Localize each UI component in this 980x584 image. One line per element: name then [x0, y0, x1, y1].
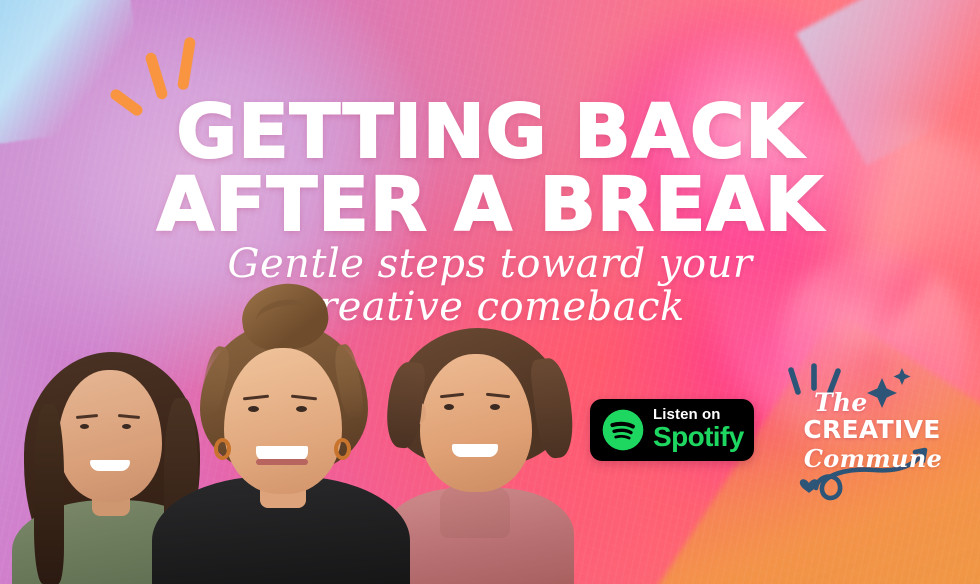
heart-icon — [800, 479, 818, 493]
episode-subtitle-line-1: Gentle steps toward your — [0, 243, 980, 286]
turtleneck-collar — [440, 486, 510, 538]
eye-right — [296, 406, 307, 412]
episode-title-line-1: GETTING BACK — [0, 96, 980, 169]
face — [58, 370, 162, 502]
logo-word-creative: CREATIVE — [794, 415, 950, 444]
brand-logo[interactable]: The CREATIVE Commune — [778, 362, 964, 512]
eye-right — [490, 404, 500, 410]
episode-title: GETTING BACK AFTER A BREAK — [0, 96, 980, 241]
host-portraits-group — [0, 284, 620, 584]
spotify-icon — [602, 409, 644, 451]
four-point-star-icon — [867, 368, 911, 408]
logo-word-commune: Commune — [800, 444, 946, 473]
host-portrait-center — [160, 288, 400, 584]
smile — [452, 444, 498, 457]
listen-on-spotify-badge[interactable]: Listen on Spotify — [590, 399, 754, 461]
orange-stroke-1 — [177, 36, 196, 90]
spotify-listen-label: Listen on — [653, 407, 744, 422]
eye-left — [248, 406, 259, 412]
lower-lip — [256, 459, 308, 465]
hoop-earring-left — [214, 438, 231, 460]
eye-left — [444, 404, 454, 410]
podcast-episode-cover: GETTING BACK AFTER A BREAK Gentle steps … — [0, 0, 980, 584]
face — [420, 354, 532, 492]
eye-right — [122, 424, 131, 429]
logo-word-the: The — [814, 388, 868, 417]
spotify-badge-text: Listen on Spotify — [653, 407, 744, 453]
eye-left — [80, 424, 89, 429]
episode-title-line-2: AFTER A BREAK — [0, 169, 980, 242]
hair-strand-left — [34, 404, 64, 584]
orange-stroke-2 — [144, 51, 169, 100]
spotify-brand-label: Spotify — [653, 423, 744, 451]
smile — [90, 460, 130, 471]
face — [224, 348, 342, 494]
hoop-earring-right — [334, 438, 351, 460]
